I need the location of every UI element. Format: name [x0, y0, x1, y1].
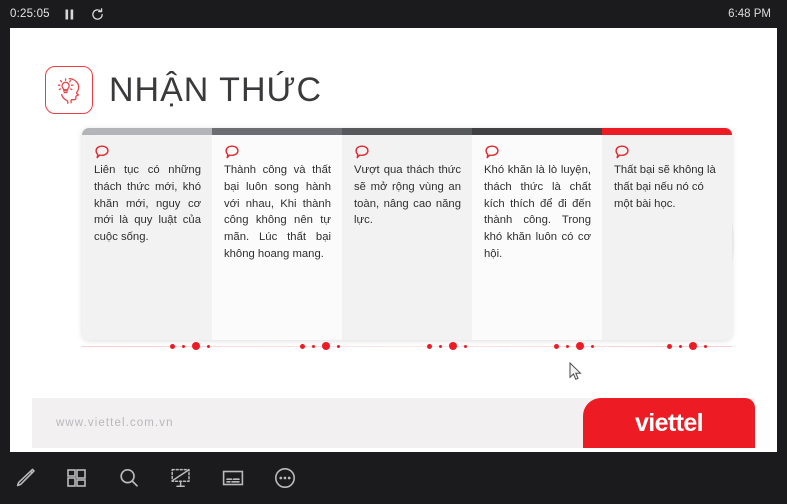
speech-bubble-icon: [224, 145, 240, 160]
footer-url: www.viettel.com.vn: [56, 417, 174, 429]
dot: [182, 345, 185, 348]
card-top-bar: [472, 128, 602, 135]
card-top-bar: [342, 128, 472, 135]
card-top-bar: [602, 128, 732, 135]
card-body: Thành công và thất bại luôn song hành vớ…: [212, 135, 342, 271]
pause-icon[interactable]: [62, 6, 78, 22]
insight-card[interactable]: Thất bại sẽ không là thất bại nếu nó có …: [602, 128, 732, 340]
dot: [554, 344, 559, 349]
dot: [576, 342, 584, 350]
dot-group: [427, 338, 467, 354]
dot: [300, 344, 305, 349]
viettel-logo: viettel: [583, 398, 755, 448]
dot-group: [554, 338, 594, 354]
dot-group: [667, 338, 707, 354]
speech-bubble-icon: [484, 145, 500, 160]
dot: [704, 345, 707, 348]
zoom-tool[interactable]: [112, 461, 146, 495]
more-options-tool[interactable]: [268, 461, 302, 495]
dot: [427, 344, 432, 349]
pen-tool[interactable]: [8, 461, 42, 495]
speech-bubble-icon: [614, 145, 630, 160]
bottom-toolbar: [0, 452, 787, 504]
dot: [591, 345, 594, 348]
dot: [337, 345, 340, 348]
slide-footer: www.viettel.com.vn viettel: [32, 398, 755, 448]
card-text: Thất bại sẽ không là thất bại nếu nó có …: [614, 162, 721, 212]
elapsed-timer: 0:25:05: [10, 8, 50, 20]
dot: [689, 342, 697, 350]
card-top-bar: [212, 128, 342, 135]
slide-layout-tool[interactable]: [60, 461, 94, 495]
slide-title-row: NHẬN THỨC: [45, 66, 322, 114]
card-text: Liên tục có những thách thức mới, khó kh…: [94, 162, 201, 246]
dot: [667, 344, 672, 349]
dot-group: [170, 338, 210, 354]
card-body: Thất bại sẽ không là thất bại nếu nó có …: [602, 135, 732, 220]
captions-tool[interactable]: [216, 461, 250, 495]
insight-cards: Liên tục có những thách thức mới, khó kh…: [82, 128, 732, 340]
card-text: Vượt qua thách thức sẽ mở rộng vùng an t…: [354, 162, 461, 229]
clock: 6:48 PM: [728, 8, 787, 20]
card-body: Khó khăn là lò luyện, thách thức là chất…: [472, 135, 602, 271]
dot: [192, 342, 200, 350]
dot: [679, 345, 682, 348]
insight-card[interactable]: Liên tục có những thách thức mới, khó kh…: [82, 128, 212, 340]
dot: [322, 342, 330, 350]
topbar-left-controls: 0:25:05: [0, 6, 106, 22]
dot: [464, 345, 467, 348]
page-title: NHẬN THỨC: [109, 71, 322, 110]
insight-card[interactable]: Khó khăn là lò luyện, thách thức là chất…: [472, 128, 602, 340]
viettel-logo-text: viettel: [635, 409, 703, 438]
mouse-cursor: [569, 362, 582, 386]
dot: [566, 345, 569, 348]
dot: [449, 342, 457, 350]
refresh-icon[interactable]: [90, 6, 106, 22]
dot: [439, 345, 442, 348]
dot-divider-row: [82, 338, 732, 354]
card-body: Vượt qua thách thức sẽ mở rộng vùng an t…: [342, 135, 472, 237]
laser-pointer-tool[interactable]: [164, 461, 198, 495]
dot: [170, 344, 175, 349]
card-text: Khó khăn là lò luyện, thách thức là chất…: [484, 162, 591, 263]
slide-stage[interactable]: NHẬN THỨC Liên tục có những thách thức m…: [10, 28, 777, 452]
head-lightbulb-icon: [45, 66, 93, 114]
top-status-bar: 0:25:05 6:48 PM: [0, 0, 787, 28]
dot-group: [300, 338, 340, 354]
dot: [312, 345, 315, 348]
speech-bubble-icon: [94, 145, 110, 160]
card-top-bar: [82, 128, 212, 135]
presentation-viewer: 0:25:05 6:48 PM: [0, 0, 787, 504]
card-body: Liên tục có những thách thức mới, khó kh…: [82, 135, 212, 254]
dot: [207, 345, 210, 348]
speech-bubble-icon: [354, 145, 370, 160]
card-text: Thành công và thất bại luôn song hành vớ…: [224, 162, 331, 263]
insight-card[interactable]: Thành công và thất bại luôn song hành vớ…: [212, 128, 342, 340]
insight-card[interactable]: Vượt qua thách thức sẽ mở rộng vùng an t…: [342, 128, 472, 340]
